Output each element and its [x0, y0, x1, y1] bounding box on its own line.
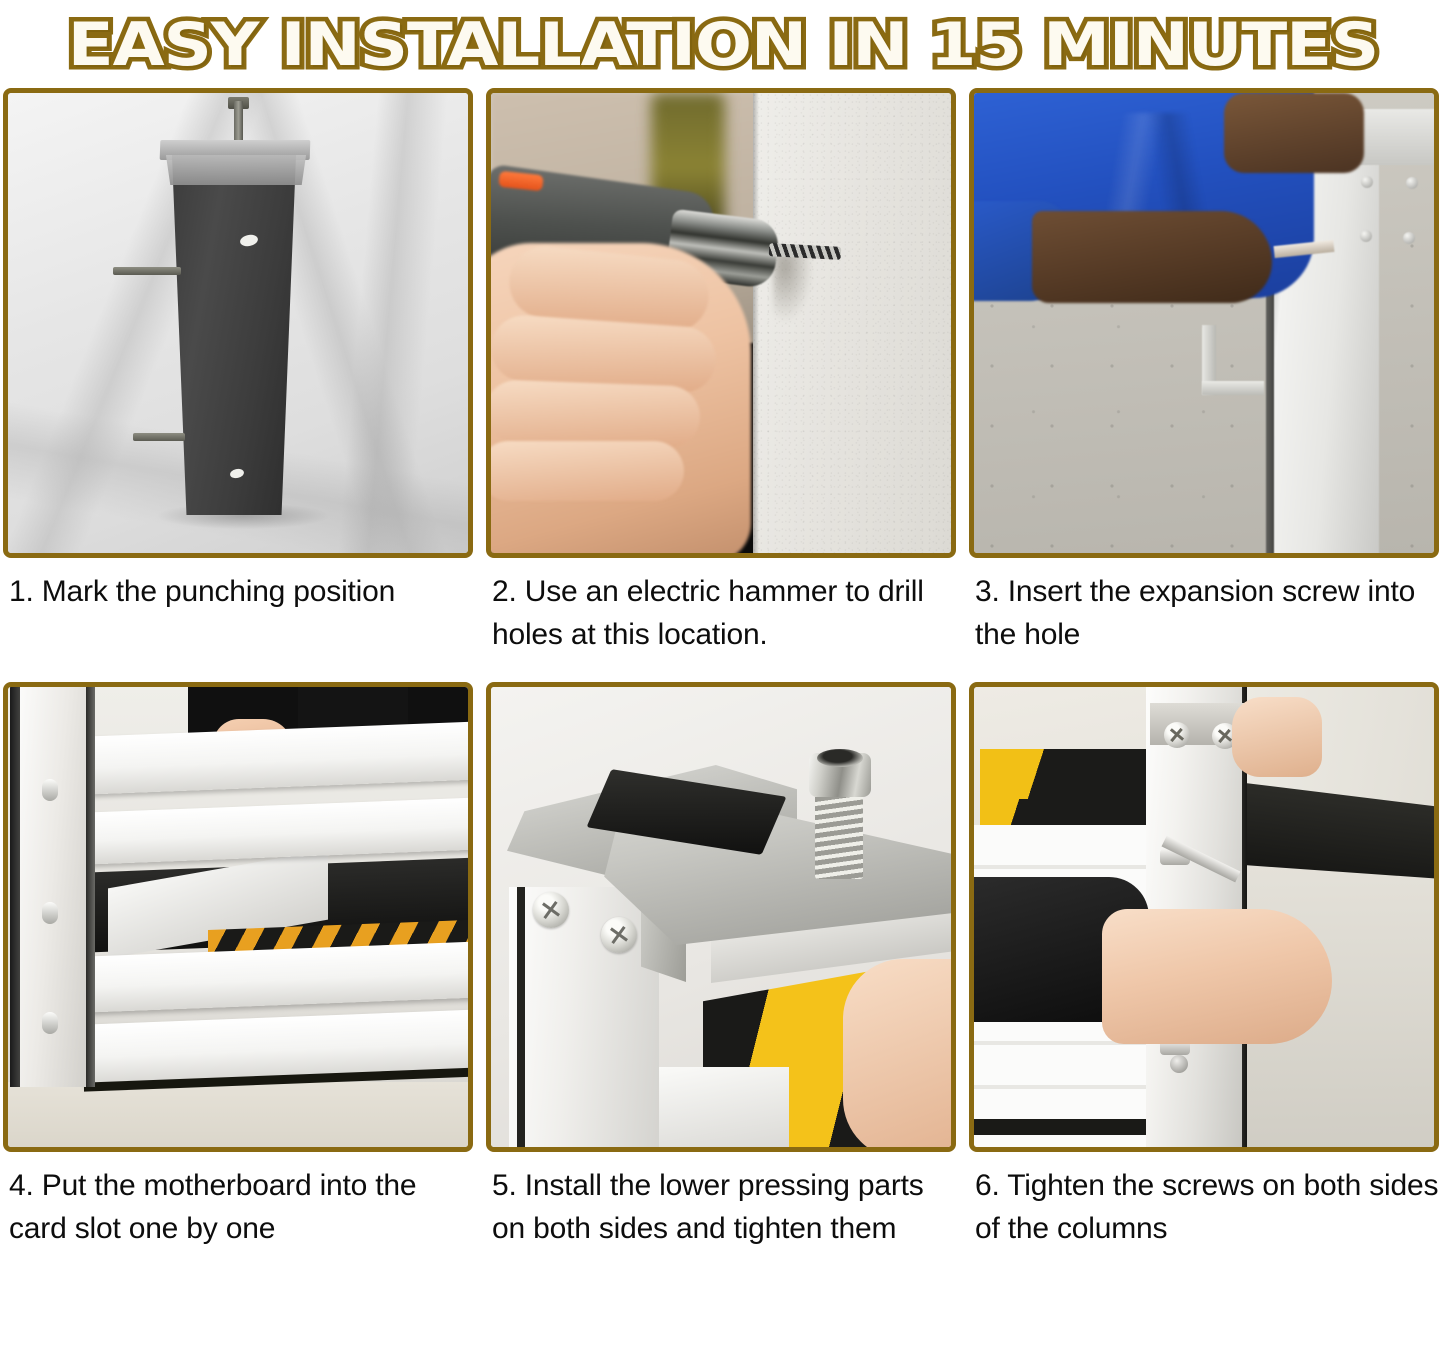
step-card-5: 5. Install the lower pressing parts on b…: [486, 682, 964, 1250]
phillips-screw: [533, 892, 569, 928]
side-bolt-upper: [113, 267, 181, 275]
step-caption-2: 2. Use an electric hammer to drill holes…: [486, 558, 964, 656]
marking-punching-position-photo: [3, 88, 473, 558]
post-collar: [163, 155, 309, 185]
insert-motherboard-photo: [3, 682, 473, 1152]
step-card-3: 3. Insert the expansion screw into the h…: [969, 88, 1445, 656]
column-screw: [1406, 177, 1418, 189]
operator-hand: [843, 959, 951, 1147]
column-screw: [1361, 176, 1373, 188]
step-caption-1: 1. Mark the punching position: [3, 558, 481, 613]
steps-row-top: 1. Mark the punching position: [0, 88, 1445, 656]
white-column: [509, 887, 659, 1147]
worker-arm: [1032, 211, 1272, 303]
dark-post-body: [168, 155, 300, 515]
finger: [491, 441, 684, 501]
textured-wall: [753, 93, 951, 553]
worker-second-arm: [1224, 93, 1364, 173]
lower-pressing-parts-photo: [486, 682, 956, 1152]
column-screw: [42, 902, 58, 924]
white-barrier-board: [659, 1067, 789, 1147]
step-card-1: 1. Mark the punching position: [3, 88, 481, 656]
bolt-socket-cap: [817, 749, 863, 767]
step-card-2: 2. Use an electric hammer to drill holes…: [486, 88, 964, 656]
insert-expansion-screw-photo: [969, 88, 1439, 558]
column-screw: [1360, 230, 1372, 242]
step-caption-3: 3. Insert the expansion screw into the h…: [969, 558, 1445, 656]
wall-corner-edge: [753, 93, 759, 553]
phillips-screw: [601, 917, 637, 953]
column-bolt-nut: [1170, 1055, 1188, 1073]
operator-second-hand: [1232, 697, 1322, 777]
step-caption-5: 5. Install the lower pressing parts on b…: [486, 1152, 964, 1250]
drill-dust: [773, 253, 813, 323]
steps-row-bottom: 4. Put the motherboard into the card slo…: [0, 682, 1445, 1250]
drilling-holes-photo: [486, 88, 956, 558]
column-screw: [1403, 232, 1415, 244]
side-bolt-lower: [133, 433, 185, 441]
column-inner-edge: [86, 687, 95, 1087]
row-gap: [0, 656, 1445, 682]
page-title: EASY INSTALLATION IN 15 MINUTES: [67, 10, 1377, 80]
operator-hand: [1102, 909, 1332, 1044]
step-card-4: 4. Put the motherboard into the card slo…: [3, 682, 481, 1250]
bolt-thread: [815, 793, 863, 879]
column-screw: [42, 779, 58, 801]
column-screw: [42, 1012, 58, 1034]
top-stud: [234, 101, 243, 145]
step-card-6: 6. Tighten the screws on both sides of t…: [969, 682, 1445, 1250]
column-dark-edge: [517, 887, 525, 1147]
allen-key-foot: [1202, 381, 1264, 395]
tighten-column-screws-photo: [969, 682, 1439, 1152]
installation-guide-infographic: EASY INSTALLATION IN 15 MINUTES: [0, 0, 1445, 1250]
step-caption-6: 6. Tighten the screws on both sides of t…: [969, 1152, 1445, 1250]
floor: [8, 1082, 468, 1147]
phillips-screw: [1164, 722, 1190, 748]
header-banner: EASY INSTALLATION IN 15 MINUTES: [0, 0, 1445, 88]
finger: [491, 379, 701, 448]
step-caption-4: 4. Put the motherboard into the card slo…: [3, 1152, 481, 1250]
bottom-seal-strip: [974, 1119, 1150, 1135]
